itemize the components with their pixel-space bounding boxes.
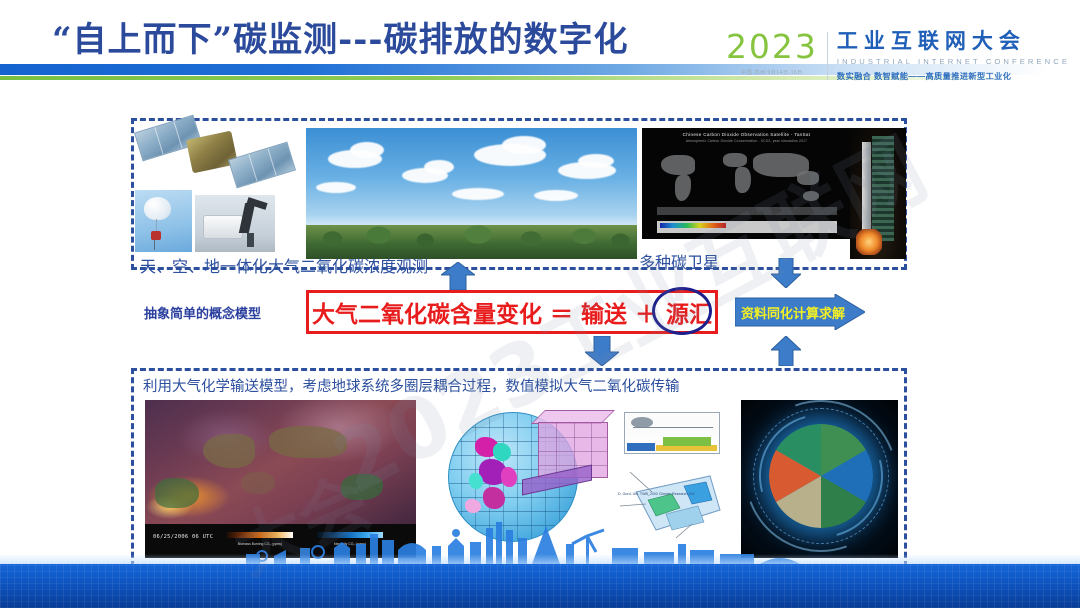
observation-panel: Chinese Carbon Dioxide Observation Satel… [131,118,907,270]
logo-name-en: INDUSTRIAL INTERNET CONFERENCE [837,57,1070,66]
conference-logo: 2023 中国·苏州 9月14日-16日 工业互联网大会 INDUSTRIAL … [726,30,1070,86]
emission-schematic-image [624,412,720,454]
logo-tagline: 数实融合 数智赋能——高质量推进新型工业化 [837,70,1070,82]
landmass-shape [465,499,481,513]
arrow-down-icon [771,258,801,288]
arrow-up-icon [771,336,801,366]
balloon-tail [154,240,155,250]
observation-caption-left: 天、空、地一体化大气二氧化碳浓度观测 [140,253,428,277]
slide-root: “自上而下”碳监测---碳排放的数字化 2023 中国·苏州 9月14日-16日… [0,0,1080,608]
world-map-graphic [657,147,837,217]
continent-shape [661,155,695,175]
footer-band [0,564,1080,608]
concept-model-label: 抽象简单的概念模型 [144,303,261,322]
schematic-divider [633,427,714,428]
ground-instrument-image [195,195,275,252]
logo-year: 2023 [726,30,818,64]
rocket-flame [856,229,882,255]
diagram-source-note: D. Gurd. Uni. TWB_2002 Climate Research,… [618,492,694,497]
instrument-arm [239,203,255,233]
logo-name-block: 工业互联网大会 INDUSTRIAL INTERNET CONFERENCE 数… [828,30,1070,82]
weather-balloon-image [135,190,192,252]
carbon-satellite-map-image: Chinese Carbon Dioxide Observation Satel… [642,128,851,239]
balloon-payload [151,231,161,240]
continent-shape [675,175,691,201]
landmass-shape [241,472,275,494]
cloud-shape [316,182,356,193]
schematic-vegetation-block [663,437,712,446]
carbon-map-title: Chinese Carbon Dioxide Observation Satel… [642,132,851,137]
rocket-body [862,142,871,237]
landmass-shape [501,467,517,487]
instrument-leg [247,233,254,247]
continent-shape [735,167,751,193]
arrow-up-icon [441,262,475,290]
landmass-shape [203,434,255,468]
logo-name-cn: 工业互联网大会 [837,30,1070,54]
landmass-shape [269,426,347,458]
launch-tower [872,136,894,241]
cloud-shape [534,190,578,201]
balloon-icon [144,197,171,220]
continent-shape [803,191,819,201]
earth-globe-graphic [769,424,873,528]
landmass-shape [493,443,511,461]
instrument-cabinet [203,215,243,239]
co2-map-graphic [145,400,416,524]
page-title: “自上而下”碳监测---碳排放的数字化 [52,12,628,61]
cloud-shape [578,154,614,168]
continent-shape [723,153,747,167]
carbon-map-colorbar [657,221,837,233]
observation-caption-right: 多种碳卫星 [639,249,719,273]
landmass-shape [469,473,483,489]
cloud-shape [350,142,384,158]
logo-date: 中国·苏州 9月14日-16日 [741,69,803,76]
cloud-shape [452,188,504,200]
data-assimilation-label: 资料同化计算求解 [741,303,845,322]
landmass-shape [483,487,505,509]
logo-year-block: 2023 中国·苏州 9月14日-16日 [726,30,827,76]
satellite-collage-image [131,117,309,267]
carbon-map-subtitle: Atmospheric Carbon Dioxide Concentration… [642,139,851,143]
landmass-shape [155,478,199,508]
model-simulation-caption: 利用大气化学输送模型，考虑地球系统多圈层耦合过程，数值模拟大气二氧化碳传输 [143,375,680,396]
satellite-solar-panel-right [228,142,296,189]
source-sink-highlight-circle [652,287,712,335]
earth-segments [769,424,873,528]
antarctica-shape [657,207,837,215]
schematic-ocean-block [627,443,655,451]
colorbar-gradient [660,223,726,228]
slide-header: “自上而下”碳监测---碳排放的数字化 2023 中国·苏州 9月14日-16日… [0,0,1080,100]
rocket-launch-image [850,128,906,259]
continent-shape [797,171,819,185]
sky-forest-photo [306,128,637,259]
cloud-shape [424,160,454,174]
arrow-down-icon [585,336,619,366]
cloud-shape [502,136,546,154]
landmass-shape [341,474,383,500]
